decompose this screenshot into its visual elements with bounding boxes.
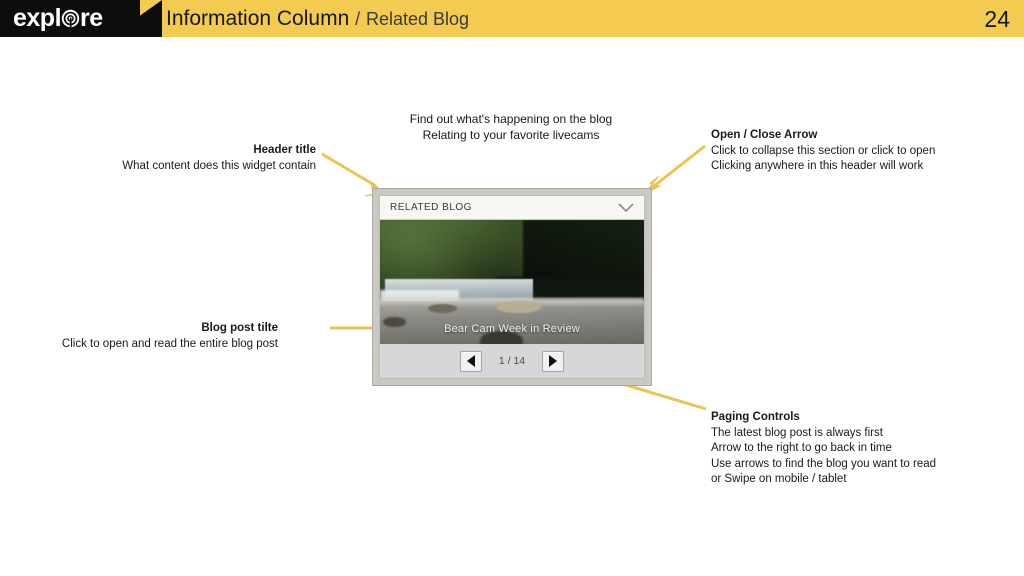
annotation-paging-controls-line2: Arrow to the right to go back in time bbox=[711, 442, 892, 454]
annotation-paging-controls-line4: or Swipe on mobile / tablet bbox=[711, 473, 847, 485]
page-title: Information Column bbox=[166, 7, 349, 30]
breadcrumb-subtitle: Related Blog bbox=[366, 9, 469, 29]
logo-text-after: re bbox=[80, 4, 103, 33]
triangle-right-icon[interactable] bbox=[542, 351, 564, 372]
annotation-paging-controls-line1: The latest blog post is always first bbox=[711, 427, 883, 439]
top-banner: explre Information Column / Related Blog… bbox=[0, 0, 1024, 37]
brand-block-slant bbox=[110, 0, 162, 37]
page-counter: 1 / 14 bbox=[492, 355, 532, 367]
spiral-target-icon bbox=[61, 9, 80, 28]
logo-text-before: expl bbox=[13, 4, 61, 33]
annotation-top-center: Find out what's happening on the blog Re… bbox=[365, 111, 657, 143]
annotation-paging-controls: Paging Controls The latest blog post is … bbox=[711, 410, 1011, 488]
annotation-open-close-line1: Click to collapse this section or click … bbox=[711, 145, 935, 157]
annotation-header-title: Header title What content does this widg… bbox=[40, 143, 316, 174]
annotation-open-close-line2: Clicking anywhere in this header will wo… bbox=[711, 160, 923, 172]
annotation-paging-controls-heading: Paging Controls bbox=[711, 410, 1011, 426]
breadcrumb: Information Column / Related Blog bbox=[166, 5, 469, 33]
annotation-header-title-heading: Header title bbox=[40, 143, 316, 159]
related-blog-widget: RELATED BLOG Bear Cam Week in Review 1 /… bbox=[372, 188, 652, 386]
annotation-header-title-line1: What content does this widget contain bbox=[122, 160, 316, 172]
paging-controls: 1 / 14 bbox=[380, 344, 644, 378]
annotation-blog-post-title-line1: Click to open and read the entire blog p… bbox=[62, 338, 278, 350]
widget-header[interactable]: RELATED BLOG bbox=[380, 196, 644, 220]
triangle-left-icon[interactable] bbox=[460, 351, 482, 372]
widget-header-title: RELATED BLOG bbox=[390, 202, 472, 213]
annotation-top-center-line1: Find out what's happening on the blog bbox=[410, 112, 612, 126]
blog-post-thumbnail[interactable]: Bear Cam Week in Review bbox=[380, 220, 644, 355]
annotation-open-close-heading: Open / Close Arrow bbox=[711, 128, 1011, 144]
annotation-blog-post-title: Blog post tilte Click to open and read t… bbox=[40, 321, 278, 352]
bear-silhouette bbox=[428, 304, 457, 313]
blog-post-caption[interactable]: Bear Cam Week in Review bbox=[380, 323, 644, 335]
widget-inner-frame: RELATED BLOG Bear Cam Week in Review 1 /… bbox=[379, 195, 645, 379]
bear-silhouette bbox=[496, 301, 541, 313]
explore-logo[interactable]: explre bbox=[13, 4, 103, 33]
annotation-open-close: Open / Close Arrow Click to collapse thi… bbox=[711, 128, 1011, 175]
breadcrumb-separator: / bbox=[355, 9, 360, 29]
slide-number: 24 bbox=[984, 4, 1010, 34]
annotation-top-center-line2: Relating to your favorite livecams bbox=[423, 128, 600, 142]
chevron-down-icon[interactable] bbox=[616, 201, 636, 214]
annotation-blog-post-title-heading: Blog post tilte bbox=[40, 321, 278, 337]
annotation-paging-controls-line3: Use arrows to find the blog you want to … bbox=[711, 458, 936, 470]
